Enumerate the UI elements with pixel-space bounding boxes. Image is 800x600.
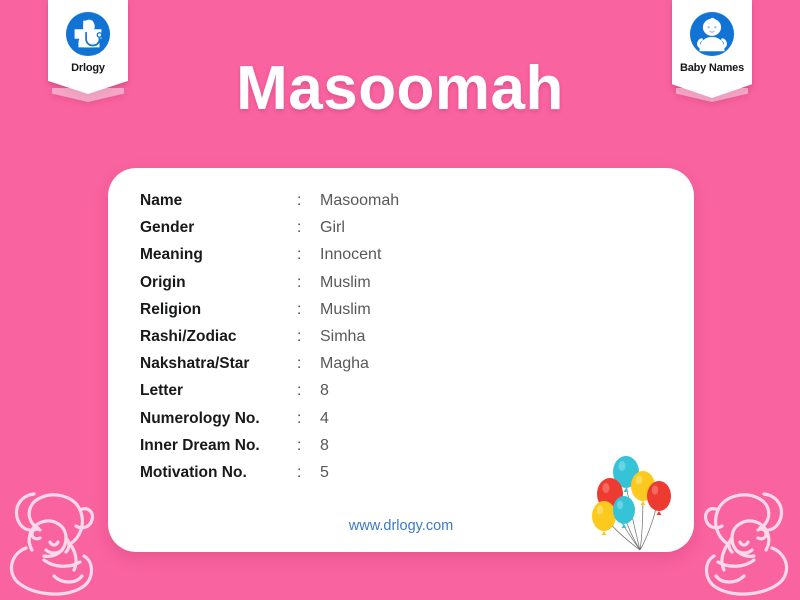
row-value: Muslim — [320, 301, 371, 319]
balloons-illustration — [588, 444, 688, 552]
row-separator: : — [297, 410, 320, 428]
row-label: Meaning — [140, 246, 297, 264]
row-value: Simha — [320, 328, 365, 346]
mother-baby-outline-left — [0, 464, 108, 600]
row-label: Name — [140, 192, 297, 210]
row-label: Gender — [140, 219, 297, 237]
row-value: 5 — [320, 464, 329, 482]
row-value: Masoomah — [320, 192, 399, 210]
row-label: Religion — [140, 301, 297, 319]
baby-icon — [689, 11, 735, 57]
row-label: Letter — [140, 382, 297, 400]
row-separator: : — [297, 355, 320, 373]
table-row: Meaning : Innocent — [140, 246, 399, 273]
table-row: Inner Dream No. : 8 — [140, 437, 399, 464]
row-separator: : — [297, 301, 320, 319]
row-separator: : — [297, 219, 320, 237]
table-row: Origin : Muslim — [140, 274, 399, 301]
table-row: Motivation No. : 5 — [140, 464, 399, 491]
row-label: Rashi/Zodiac — [140, 328, 297, 346]
row-separator: : — [297, 382, 320, 400]
row-separator: : — [297, 246, 320, 264]
table-row: Gender : Girl — [140, 219, 399, 246]
row-separator: : — [297, 437, 320, 455]
row-separator: : — [297, 192, 320, 210]
details-table: Name : Masoomah Gender : Girl Meaning : … — [140, 192, 399, 491]
mother-baby-outline-right — [690, 464, 800, 600]
table-row: Name : Masoomah — [140, 192, 399, 219]
row-value: Magha — [320, 355, 369, 373]
row-label: Nakshatra/Star — [140, 355, 297, 373]
row-value: Innocent — [320, 246, 381, 264]
row-value: 4 — [320, 410, 329, 428]
row-label: Motivation No. — [140, 464, 297, 482]
row-separator: : — [297, 328, 320, 346]
row-value: Muslim — [320, 274, 371, 292]
row-label: Origin — [140, 274, 297, 292]
row-value: Girl — [320, 219, 345, 237]
row-label: Inner Dream No. — [140, 437, 297, 455]
table-row: Letter : 8 — [140, 382, 399, 409]
table-row: Religion : Muslim — [140, 301, 399, 328]
table-row: Numerology No. : 4 — [140, 410, 399, 437]
row-value: 8 — [320, 437, 329, 455]
website-url-link[interactable]: www.drlogy.com — [108, 518, 694, 534]
page-title: Masoomah — [0, 58, 800, 120]
table-row: Nakshatra/Star : Magha — [140, 355, 399, 382]
doctor-cross-icon — [65, 11, 111, 57]
row-value: 8 — [320, 382, 329, 400]
table-row: Rashi/Zodiac : Simha — [140, 328, 399, 355]
row-separator: : — [297, 274, 320, 292]
name-details-card: Name : Masoomah Gender : Girl Meaning : … — [108, 168, 694, 552]
row-separator: : — [297, 464, 320, 482]
row-label: Numerology No. — [140, 410, 297, 428]
